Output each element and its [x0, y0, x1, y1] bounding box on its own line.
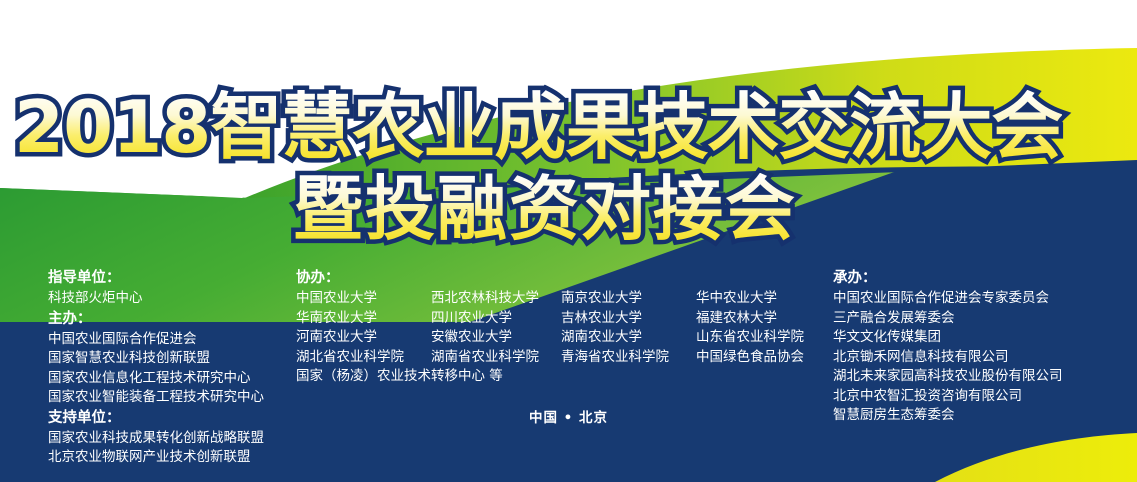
organizer-header-2: 主办：	[48, 309, 264, 330]
coorganizer-header: 协办：	[296, 268, 804, 289]
coorganizer-tail: 国家（杨凌）农业技术转移中心 等	[296, 367, 804, 387]
coorganizer-cell-1-3: 福建农林大学	[696, 309, 804, 329]
coorganizer-cell-0-0: 中国农业大学	[296, 289, 431, 309]
coorganizer-cell-2-0: 河南农业大学	[296, 328, 431, 348]
organizer-line-4: 国家智慧农业科技创新联盟	[48, 349, 264, 369]
conference-banner: 2018智慧农业成果技术交流大会 2018智慧农业成果技术交流大会 暨投融资对接…	[0, 0, 1137, 482]
coorganizer-cell-0-1: 西北农林科技大学	[431, 289, 561, 309]
organizer-line-3: 中国农业国际合作促进会	[48, 330, 264, 350]
organizer-line-6: 国家农业智能装备工程技术研究中心	[48, 388, 264, 408]
coorganizer-cell-2-3: 山东省农业科学院	[696, 328, 804, 348]
host-line-5: 湖北未来家园高科技农业股份有限公司	[833, 367, 1063, 387]
organizer-line-9: 北京农业物联网产业技术创新联盟	[48, 448, 264, 468]
coorganizer-cell-1-1: 四川农业大学	[431, 309, 561, 329]
coorganizer-cell-2-2: 湖南农业大学	[561, 328, 696, 348]
host-header-0: 承办：	[833, 268, 1063, 289]
coorganizer-cell-3-0: 湖北省农业科学院	[296, 348, 431, 368]
host-line-2: 三产融合发展筹委会	[833, 309, 1063, 329]
column-coorganizers: 协办：中国农业大学西北农林科技大学南京农业大学华中农业大学华南农业大学四川农业大…	[296, 268, 804, 387]
coorganizer-cell-2-1: 安徽农业大学	[431, 328, 561, 348]
coorganizer-cell-1-0: 华南农业大学	[296, 309, 431, 329]
organizer-line-1: 科技部火炬中心	[48, 289, 264, 309]
organizer-header-0: 指导单位：	[48, 268, 264, 289]
organizer-line-8: 国家农业科技成果转化创新战略联盟	[48, 429, 264, 449]
coorganizer-cell-1-2: 吉林农业大学	[561, 309, 696, 329]
column-organizers-left: 指导单位：科技部火炬中心主办：中国农业国际合作促进会国家智慧农业科技创新联盟国家…	[48, 268, 264, 468]
location-label: 中国 • 北京	[0, 406, 1137, 426]
host-line-6: 北京中农智汇投资咨询有限公司	[833, 387, 1063, 407]
coorganizer-grid: 中国农业大学西北农林科技大学南京农业大学华中农业大学华南农业大学四川农业大学吉林…	[296, 289, 804, 367]
organizer-line-5: 国家农业信息化工程技术研究中心	[48, 369, 264, 389]
coorganizer-cell-3-1: 湖南省农业科学院	[431, 348, 561, 368]
coorganizer-cell-3-2: 青海省农业科学院	[561, 348, 696, 368]
host-line-3: 华文文化传媒集团	[833, 328, 1063, 348]
host-line-4: 北京锄禾网信息科技有限公司	[833, 348, 1063, 368]
coorganizer-cell-0-3: 华中农业大学	[696, 289, 804, 309]
coorganizer-cell-0-2: 南京农业大学	[561, 289, 696, 309]
column-hosts-right: 承办：中国农业国际合作促进会专家委员会三产融合发展筹委会华文文化传媒集团北京锄禾…	[833, 268, 1063, 426]
coorganizer-cell-3-3: 中国绿色食品协会	[696, 348, 804, 368]
host-line-1: 中国农业国际合作促进会专家委员会	[833, 289, 1063, 309]
